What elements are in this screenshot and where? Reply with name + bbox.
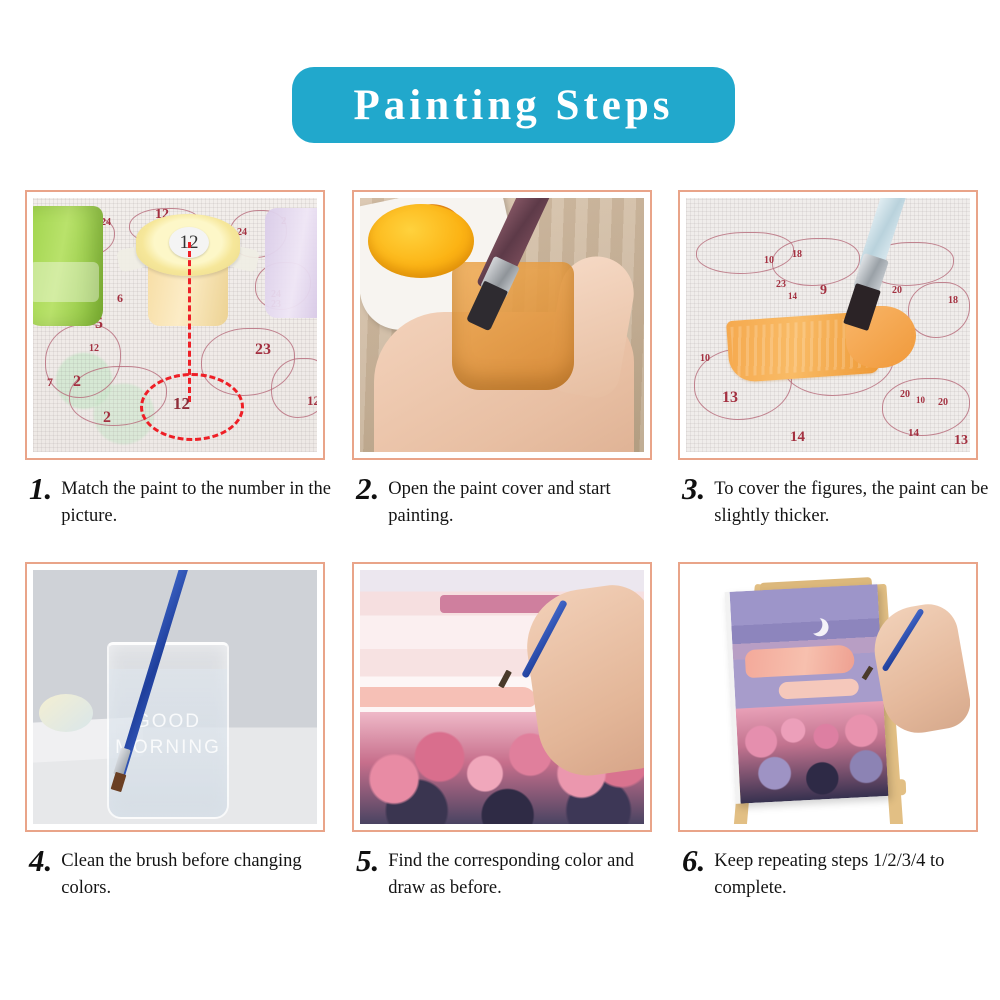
canvas-number: 23 [255,342,271,358]
step-2-photo [360,198,644,452]
canvas-number: 2 [73,374,81,390]
step-1-photo-frame: 12 24 2 24 7 6 5 12 2 7 2 23 24 23 12 [25,190,325,460]
canvas-blossoms [736,701,889,804]
yellow-paint [368,204,474,278]
match-indicator-ellipse [140,373,244,441]
canvas-number: 14 [790,430,805,445]
canvas-number: 20 [892,286,902,296]
canvas-number: 18 [948,296,958,306]
water-glass: GOOD MORNING [107,642,229,819]
step-6-photo-frame [678,562,978,832]
crescent-moon-icon [803,615,822,634]
finished-canvas [725,584,889,804]
canvas-number: 23 [776,280,786,290]
canvas-number: 13 [954,434,968,448]
step-2-caption: 2. Open the paint cover and start painti… [356,472,666,530]
canvas-number: 12 [307,394,317,407]
green-paint-pot [33,206,103,326]
step-6-text: Keep repeating steps 1/2/3/4 to complete… [714,844,992,902]
step-5-caption: 5. Find the corresponding color and draw… [356,844,666,902]
glass-text-line-1: GOOD [109,709,227,735]
canvas-number: 20 [938,398,948,408]
canvas-number: 12 [89,344,99,354]
step-6-photo [686,570,970,824]
step-3-text: To cover the figures, the paint can be s… [714,472,992,530]
purple-paint-pot [265,208,317,318]
canvas-number: 10 [916,396,925,405]
canvas-number: 14 [788,292,797,301]
step-4-photo: GOOD MORNING [33,570,317,824]
canvas-number: 10 [764,256,774,266]
step-2-photo-frame [352,190,652,460]
step-3-photo-frame: 10 18 23 14 9 20 18 10 20 13 20 10 20 14… [678,190,978,460]
step-1-photo: 12 24 2 24 7 6 5 12 2 7 2 23 24 23 12 [33,198,317,452]
step-1-caption: 1. Match the paint to the number in the … [29,472,339,530]
step-4-number: 4. [29,844,61,876]
canvas-number: 14 [908,428,919,439]
canvas-number: 9 [820,284,827,298]
canvas-number: 7 [47,376,53,388]
step-4-caption: 4. Clean the brush before changing color… [29,844,339,902]
background-object [39,694,93,732]
step-5-photo [360,570,644,824]
step-4-photo-frame: GOOD MORNING [25,562,325,832]
step-4-text: Clean the brush before changing colors. [61,844,339,902]
step-3-photo: 10 18 23 14 9 20 18 10 20 13 20 10 20 14… [686,198,970,452]
painted-cloud-band-lower [360,687,536,707]
step-3-number: 3. [682,472,714,504]
step-1-number: 1. [29,472,61,504]
step-6-caption: 6. Keep repeating steps 1/2/3/4 to compl… [682,844,992,902]
painting-steps-infographic: Painting Steps 12 24 2 [0,0,1000,1000]
canvas-number: 2 [103,410,111,426]
canvas-number: 10 [700,354,710,364]
step-1-text: Match the paint to the number in the pic… [61,472,339,530]
step-3-caption: 3. To cover the figures, the paint can b… [682,472,992,530]
paint-region-outline [271,358,317,418]
canvas-number: 20 [900,390,910,400]
circled-canvas-number: 12 [173,394,190,414]
canvas-sunset-cloud [744,645,855,678]
step-5-text: Find the corresponding color and draw as… [388,844,666,902]
canvas-number: 6 [117,292,123,304]
step-5-photo-frame [352,562,652,832]
canvas-number: 18 [792,250,802,260]
steps-grid: 12 24 2 24 7 6 5 12 2 7 2 23 24 23 12 [0,0,1000,1000]
canvas-number: 13 [722,390,738,406]
step-2-number: 2. [356,472,388,504]
step-2-text: Open the paint cover and start painting. [388,472,666,530]
step-6-number: 6. [682,844,714,876]
step-5-number: 5. [356,844,388,876]
